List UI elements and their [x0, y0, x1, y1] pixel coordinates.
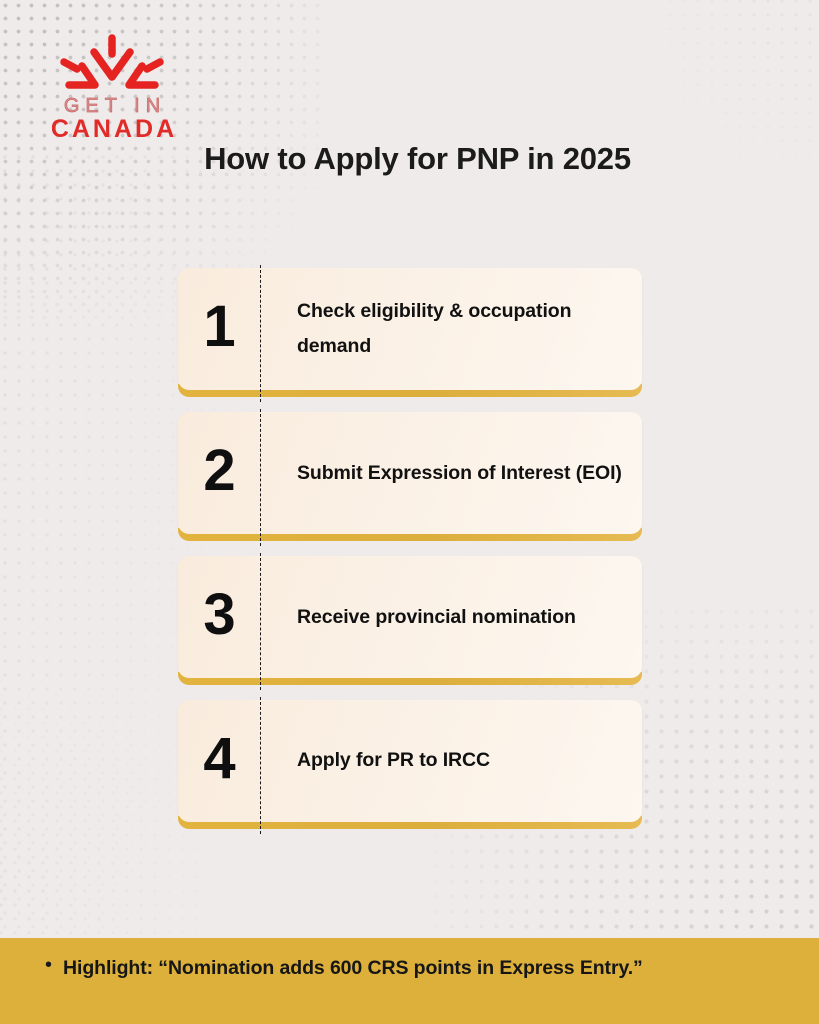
brand-logo: GET IN CANADA [42, 33, 182, 143]
step-number: 3 [178, 586, 260, 648]
footer-highlight-banner: • Highlight: “Nomination adds 600 CRS po… [0, 938, 819, 1024]
step-number: 2 [178, 442, 260, 504]
step-card-body: 2 Submit Expression of Interest (EOI) [178, 412, 642, 534]
step-card-body: 4 Apply for PR to IRCC [178, 700, 642, 822]
step-card-body: 3 Receive provincial nomination [178, 556, 642, 678]
step-label: Receive provincial nomination [260, 600, 642, 635]
canada-sunburst-icon [50, 33, 174, 95]
brand-wordmark-line2: CANADA [44, 117, 182, 142]
step-card-4: 4 Apply for PR to IRCC [178, 700, 642, 822]
step-card-3: 3 Receive provincial nomination [178, 556, 642, 678]
step-dashed-divider [260, 265, 261, 402]
page-title: How to Apply for PNP in 2025 [180, 136, 655, 182]
brand-wordmark: GET IN CANADA [44, 96, 182, 142]
step-label: Check eligibility & occupation demand [260, 294, 642, 363]
step-label: Submit Expression of Interest (EOI) [260, 456, 642, 491]
footer-highlight-text: Highlight: “Nomination adds 600 CRS poin… [63, 957, 643, 980]
footer-content: • Highlight: “Nomination adds 600 CRS po… [0, 957, 643, 1006]
step-dashed-divider [260, 553, 261, 690]
steps-list: 1 Check eligibility & occupation demand … [178, 268, 642, 844]
brand-wordmark-line1: GET IN [44, 96, 182, 116]
step-card-body: 1 Check eligibility & occupation demand [178, 268, 642, 390]
step-card-1: 1 Check eligibility & occupation demand [178, 268, 642, 390]
step-card-2: 2 Submit Expression of Interest (EOI) [178, 412, 642, 534]
infographic-poster: GET IN CANADA How to Apply for PNP in 20… [0, 0, 819, 1024]
step-label: Apply for PR to IRCC [260, 747, 642, 774]
step-dashed-divider [260, 697, 261, 834]
bullet-icon: • [45, 955, 52, 975]
step-dashed-divider [260, 409, 261, 546]
step-number: 1 [178, 298, 260, 360]
step-number: 4 [178, 730, 260, 792]
